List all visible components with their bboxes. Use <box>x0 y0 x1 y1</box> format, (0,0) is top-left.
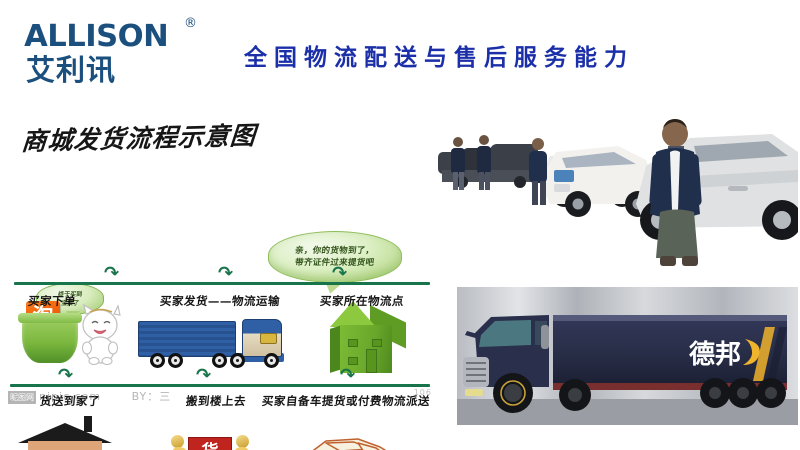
diagram-title: 商城发货流程示意图 <box>20 116 257 158</box>
truck-wheel <box>264 353 279 368</box>
deppon-truck-photo: 德邦 <box>457 287 798 425</box>
flow-arrow-icon: ↷ <box>196 367 211 385</box>
truck-wheel <box>168 353 183 368</box>
step-label-logistics-point: 买家所在物流点 <box>319 293 404 309</box>
green-house-window <box>372 339 382 347</box>
watermark-suffix: BY：三 <box>132 390 172 403</box>
deppon-brand-text: 德邦 <box>689 340 741 370</box>
slide-canvas: ALLISON ® 艾利讯 全国物流配送与售后服务能力 商城发货流程示意图 终于… <box>0 0 800 450</box>
fleet-photo <box>432 108 798 280</box>
page-title: 全国物流配送与售后服务能力 <box>244 38 774 72</box>
watermark-badge: 昵图网 <box>8 391 36 404</box>
license-plate <box>465 389 483 396</box>
watermark-text: nipic.com <box>39 390 101 403</box>
watermark-id: 106 <box>414 388 432 397</box>
logo-text-cn: 艾利讯 <box>26 55 216 85</box>
basket-rim-icon <box>18 313 82 323</box>
semi-truck-icon <box>138 317 290 379</box>
truck-trailer <box>138 321 236 357</box>
cargo-box-icon: 货 <box>188 437 232 450</box>
green-house-window <box>348 357 358 365</box>
flow-arrow-icon: ↷ <box>218 265 233 283</box>
flow-arrow-icon: ↷ <box>104 265 119 283</box>
cottage-icon <box>28 441 102 450</box>
step-label-seller-ship: 买家发货——物流运输 <box>159 293 280 309</box>
truck-trailer-body <box>553 315 787 387</box>
flow-arrow-icon: ↷ <box>340 367 355 385</box>
registered-trademark-icon: ® <box>184 16 197 31</box>
company-logo: ALLISON ® 艾利讯 <box>26 22 216 88</box>
truck-wheel <box>150 353 165 368</box>
flow-arrow-icon: ↷ <box>58 367 73 385</box>
truck-wheel <box>230 353 245 368</box>
truck-wheel <box>212 353 227 368</box>
green-house-window <box>348 339 358 347</box>
flow-arrow-icon: ↷ <box>332 265 347 283</box>
truck-window <box>260 333 277 344</box>
car-sketch-icon <box>296 431 404 450</box>
green-house-door <box>366 349 377 373</box>
carrier-body <box>168 446 189 450</box>
speech-bubble-line-1: 亲，你的货物到了， <box>295 245 376 257</box>
shipping-flow-diagram: 商城发货流程示意图 终于买到 宝贝了 淘 <box>0 105 440 425</box>
carrier-body <box>233 446 254 450</box>
shopping-basket-icon <box>22 317 78 363</box>
watermark: 昵图网nipic.com BY：三 106 <box>8 388 432 410</box>
cartoon-cat-icon <box>74 303 124 365</box>
truck-grille <box>463 357 489 387</box>
cottage-roof <box>18 423 112 443</box>
step-label-buyer-order: 买家下单 <box>27 293 76 309</box>
